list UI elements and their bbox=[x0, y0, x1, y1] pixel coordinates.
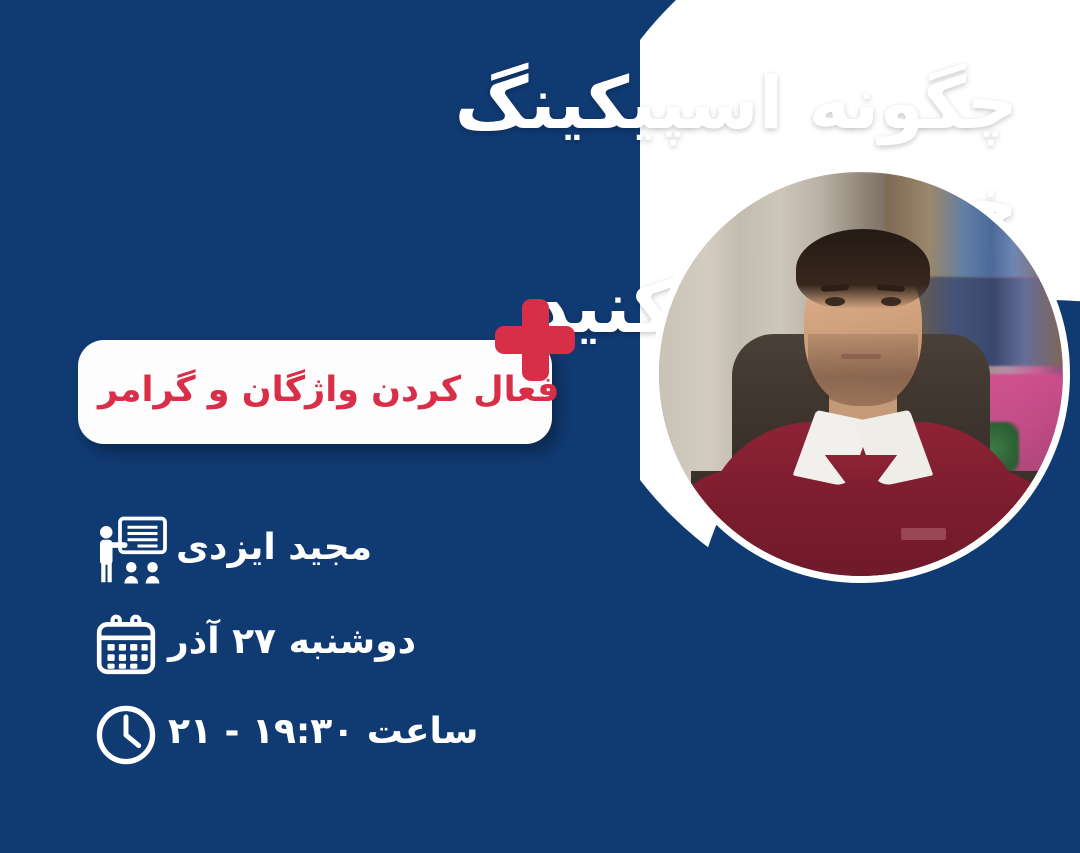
presenter-name: مجید ایزدی bbox=[176, 530, 372, 572]
portrait-hair bbox=[796, 229, 929, 310]
portrait-mouth bbox=[841, 354, 881, 360]
portrait-green-book bbox=[974, 184, 1002, 208]
clock-icon bbox=[84, 693, 168, 777]
plus-icon bbox=[495, 299, 575, 381]
topic-badge: فعال کردن واژگان و گرامر bbox=[78, 340, 552, 444]
plus-icon-horizontal-bar bbox=[495, 326, 575, 354]
topic-badge-label: فعال کردن واژگان و گرامر bbox=[98, 373, 559, 412]
portrait-sweater-logo bbox=[901, 528, 945, 540]
speaker-portrait bbox=[652, 165, 1070, 583]
portrait-eye-left bbox=[825, 297, 845, 306]
date-row: دوشنبه ۲۷ آذر bbox=[78, 603, 638, 687]
event-details: مجید ایزدی bbox=[78, 505, 638, 783]
portrait-beard bbox=[808, 334, 917, 407]
event-date: دوشنبه ۲۷ آذر bbox=[168, 624, 416, 666]
speaker-portrait-image bbox=[659, 172, 1063, 576]
time-row: ساعت ۱۹:۳۰ - ۲۱ bbox=[78, 693, 638, 777]
event-time: ساعت ۱۹:۳۰ - ۲۱ bbox=[168, 714, 478, 756]
presenter-whiteboard-icon bbox=[84, 505, 176, 597]
webinar-poster: چگونه اسپیکینگ خود را تقویت کنید فعال کر… bbox=[0, 0, 1080, 853]
presenter-row: مجید ایزدی bbox=[78, 505, 638, 597]
calendar-icon bbox=[84, 603, 168, 687]
